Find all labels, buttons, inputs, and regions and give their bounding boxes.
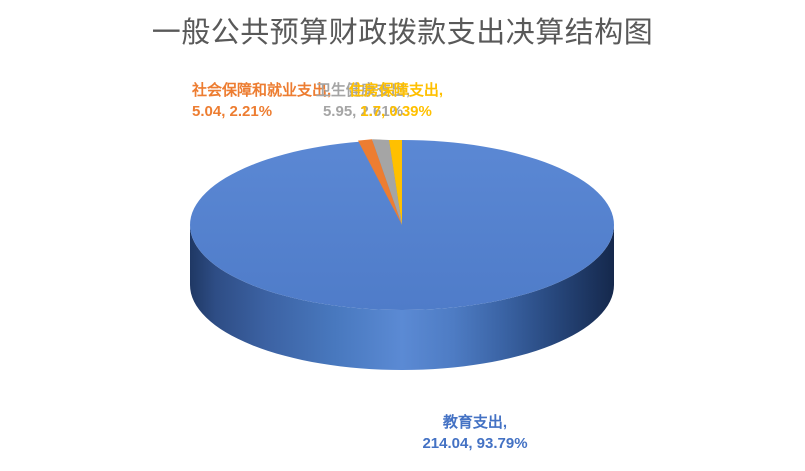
data-label-education: 教育支出, 214.04, 93.79% [345,412,605,454]
data-label-education-name: 教育支出, [345,412,605,433]
pie-chart-graphic [0,0,805,471]
data-label-housing-value: 1.7, 0.39% [316,101,476,122]
data-label-housing-name: 住房保障支出, [316,80,476,101]
pie-chart-figure: 一般公共预算财政拨款支出决算结构图 [0,0,805,471]
data-label-housing: 住房保障支出, 1.7, 0.39% [316,80,476,122]
pie-top-face [190,139,614,310]
data-label-education-value: 214.04, 93.79% [345,433,605,454]
